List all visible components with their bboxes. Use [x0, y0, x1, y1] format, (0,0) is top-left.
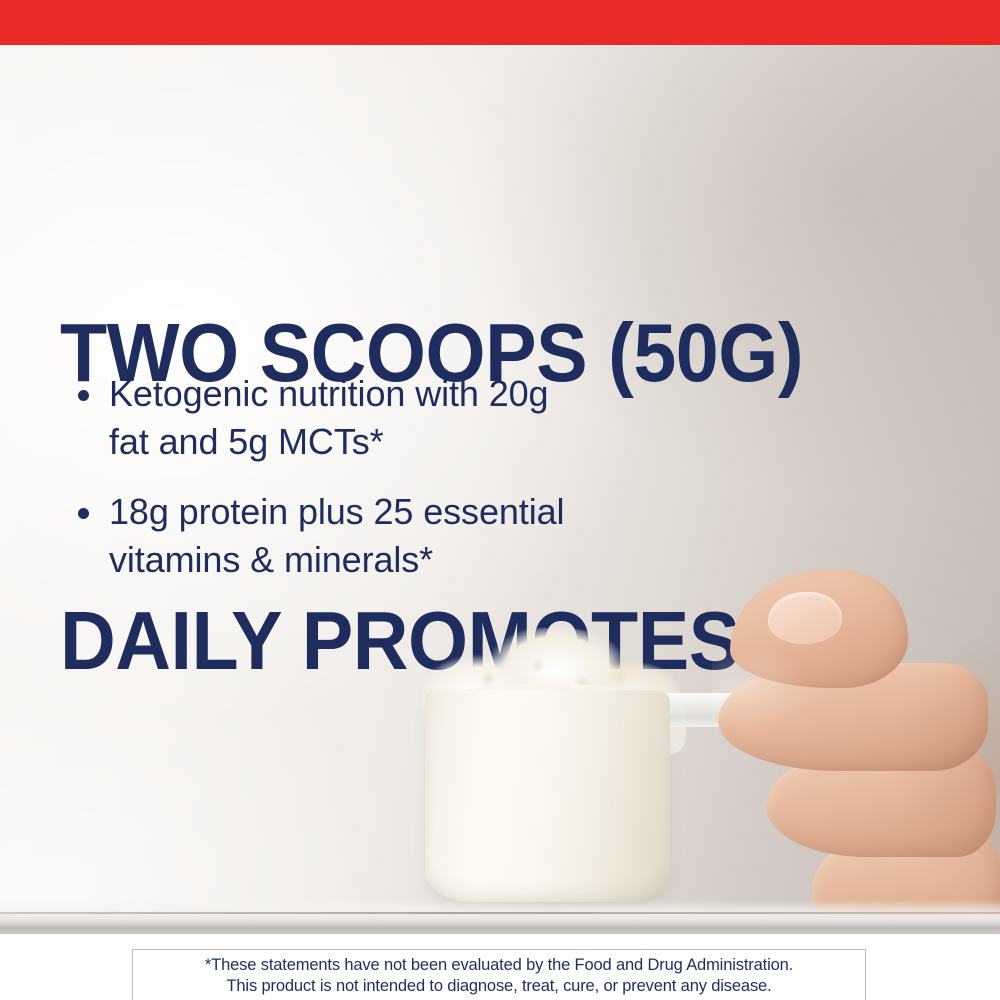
thumbnail-icon: [768, 592, 842, 644]
surface-edge-line: [0, 912, 1000, 914]
disclaimer-line-2: This product is not intended to diagnose…: [139, 976, 859, 997]
top-accent-bar: [0, 0, 1000, 45]
disclaimer-line-1: *These statements have not been evaluate…: [139, 955, 859, 976]
product-claims-panel: TWO SCOOPS (50G) DAILY PROMOTES: Ketogen…: [0, 0, 1000, 1000]
scoop-and-hand-illustration: [400, 565, 1000, 934]
benefit-2-line-1: 18g protein plus 25 essential: [109, 491, 564, 532]
benefit-1-line-1: Ketogenic nutrition with 20g: [109, 373, 548, 414]
benefit-2-line-2: vitamins & minerals*: [109, 539, 433, 580]
thumb: [730, 570, 908, 688]
benefit-text-1: Ketogenic nutrition with 20g fat and 5g …: [109, 370, 548, 466]
fda-disclaimer-box: *These statements have not been evaluate…: [132, 949, 866, 1000]
surface-edge: [0, 900, 1000, 934]
hand-icon: [700, 565, 1000, 934]
benefit-1-line-2: fat and 5g MCTs*: [109, 421, 384, 462]
measuring-scoop-icon: [425, 690, 670, 902]
bullet-dot-icon: [78, 390, 89, 401]
footer: *These statements have not been evaluate…: [0, 934, 1000, 1000]
bullet-dot-icon: [78, 508, 89, 519]
product-photo-panel: TWO SCOOPS (50G) DAILY PROMOTES: Ketogen…: [0, 45, 1000, 934]
list-item: Ketogenic nutrition with 20g fat and 5g …: [78, 370, 718, 466]
